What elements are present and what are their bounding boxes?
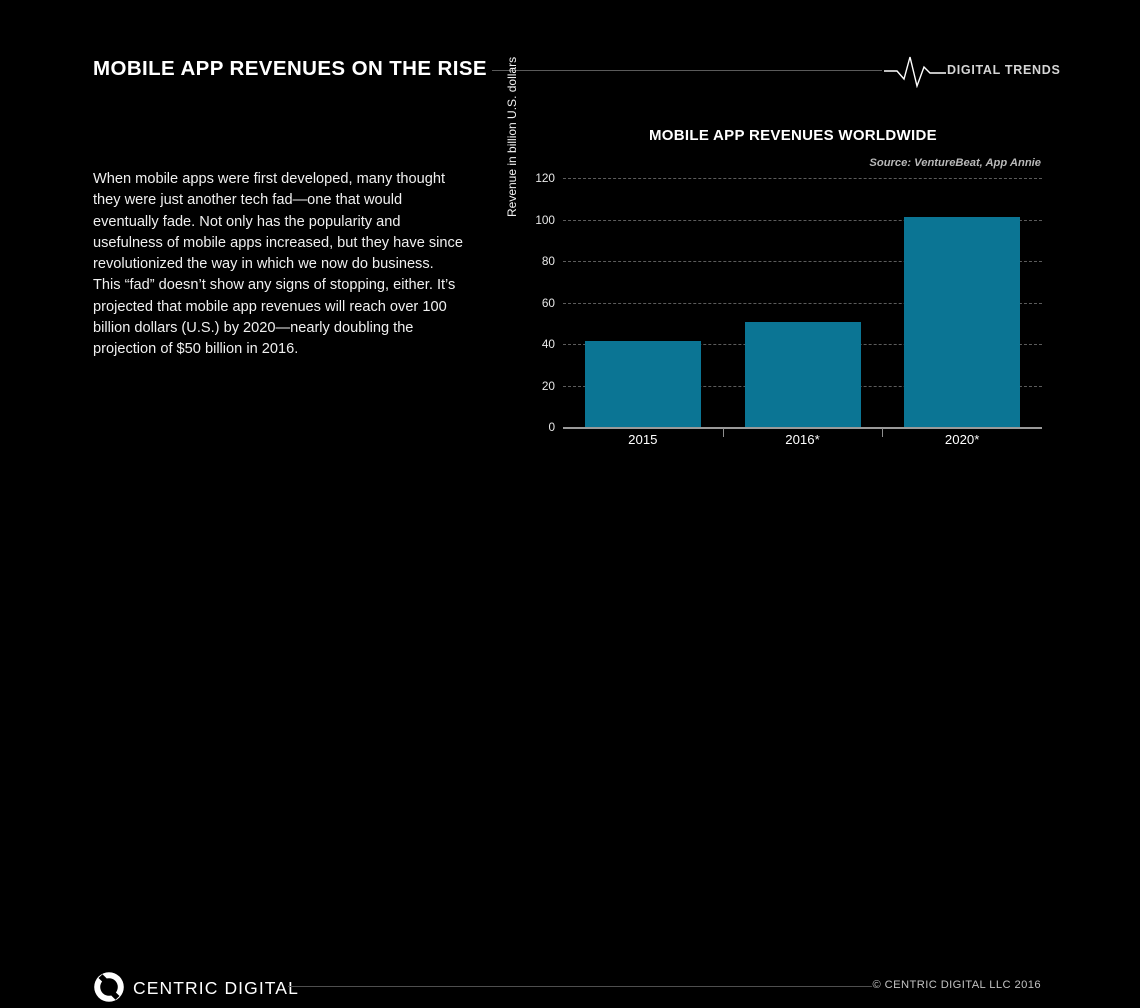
y-axis-tick-label: 60: [515, 297, 555, 309]
y-axis-tick-label: 20: [515, 380, 555, 392]
bar-2015: [585, 341, 701, 427]
x-axis-tick: [882, 428, 883, 437]
bar-2020: [904, 217, 1020, 427]
y-axis-tick-label: 120: [515, 172, 555, 184]
chart-source: Source: VentureBeat, App Annie: [869, 157, 1041, 169]
y-axis-tick-label: 0: [515, 421, 555, 433]
y-axis-tick-label: 100: [515, 214, 555, 226]
x-axis-tick-label: 2015: [563, 432, 723, 447]
y-axis-tick-label: 40: [515, 338, 555, 350]
copyright-notice: © CENTRIC DIGITAL LLC 2016: [873, 979, 1041, 991]
x-axis-tick-label: 2020*: [882, 432, 1042, 447]
y-axis-title: Revenue in billion U.S. dollars: [505, 47, 519, 217]
y-axis-tick-label: 80: [515, 255, 555, 267]
page-footer: CENTRIC DIGITAL © CENTRIC DIGITAL LLC 20…: [0, 470, 1140, 590]
chart-container: MOBILE APP REVENUES WORLDWIDE Source: Ve…: [0, 0, 1140, 470]
logo-wordmark: CENTRIC DIGITAL: [133, 978, 299, 999]
x-axis-line: [563, 427, 1042, 429]
x-axis-tick: [723, 428, 724, 437]
x-axis-tick-label: 2016*: [723, 432, 883, 447]
bar-2016: [745, 322, 861, 427]
chart-plot-area: [563, 178, 1042, 427]
gridline: [563, 178, 1042, 179]
footer-divider: [288, 986, 872, 987]
centric-circle-logo-icon: [93, 971, 125, 1003]
chart-title: MOBILE APP REVENUES WORLDWIDE: [649, 127, 937, 144]
